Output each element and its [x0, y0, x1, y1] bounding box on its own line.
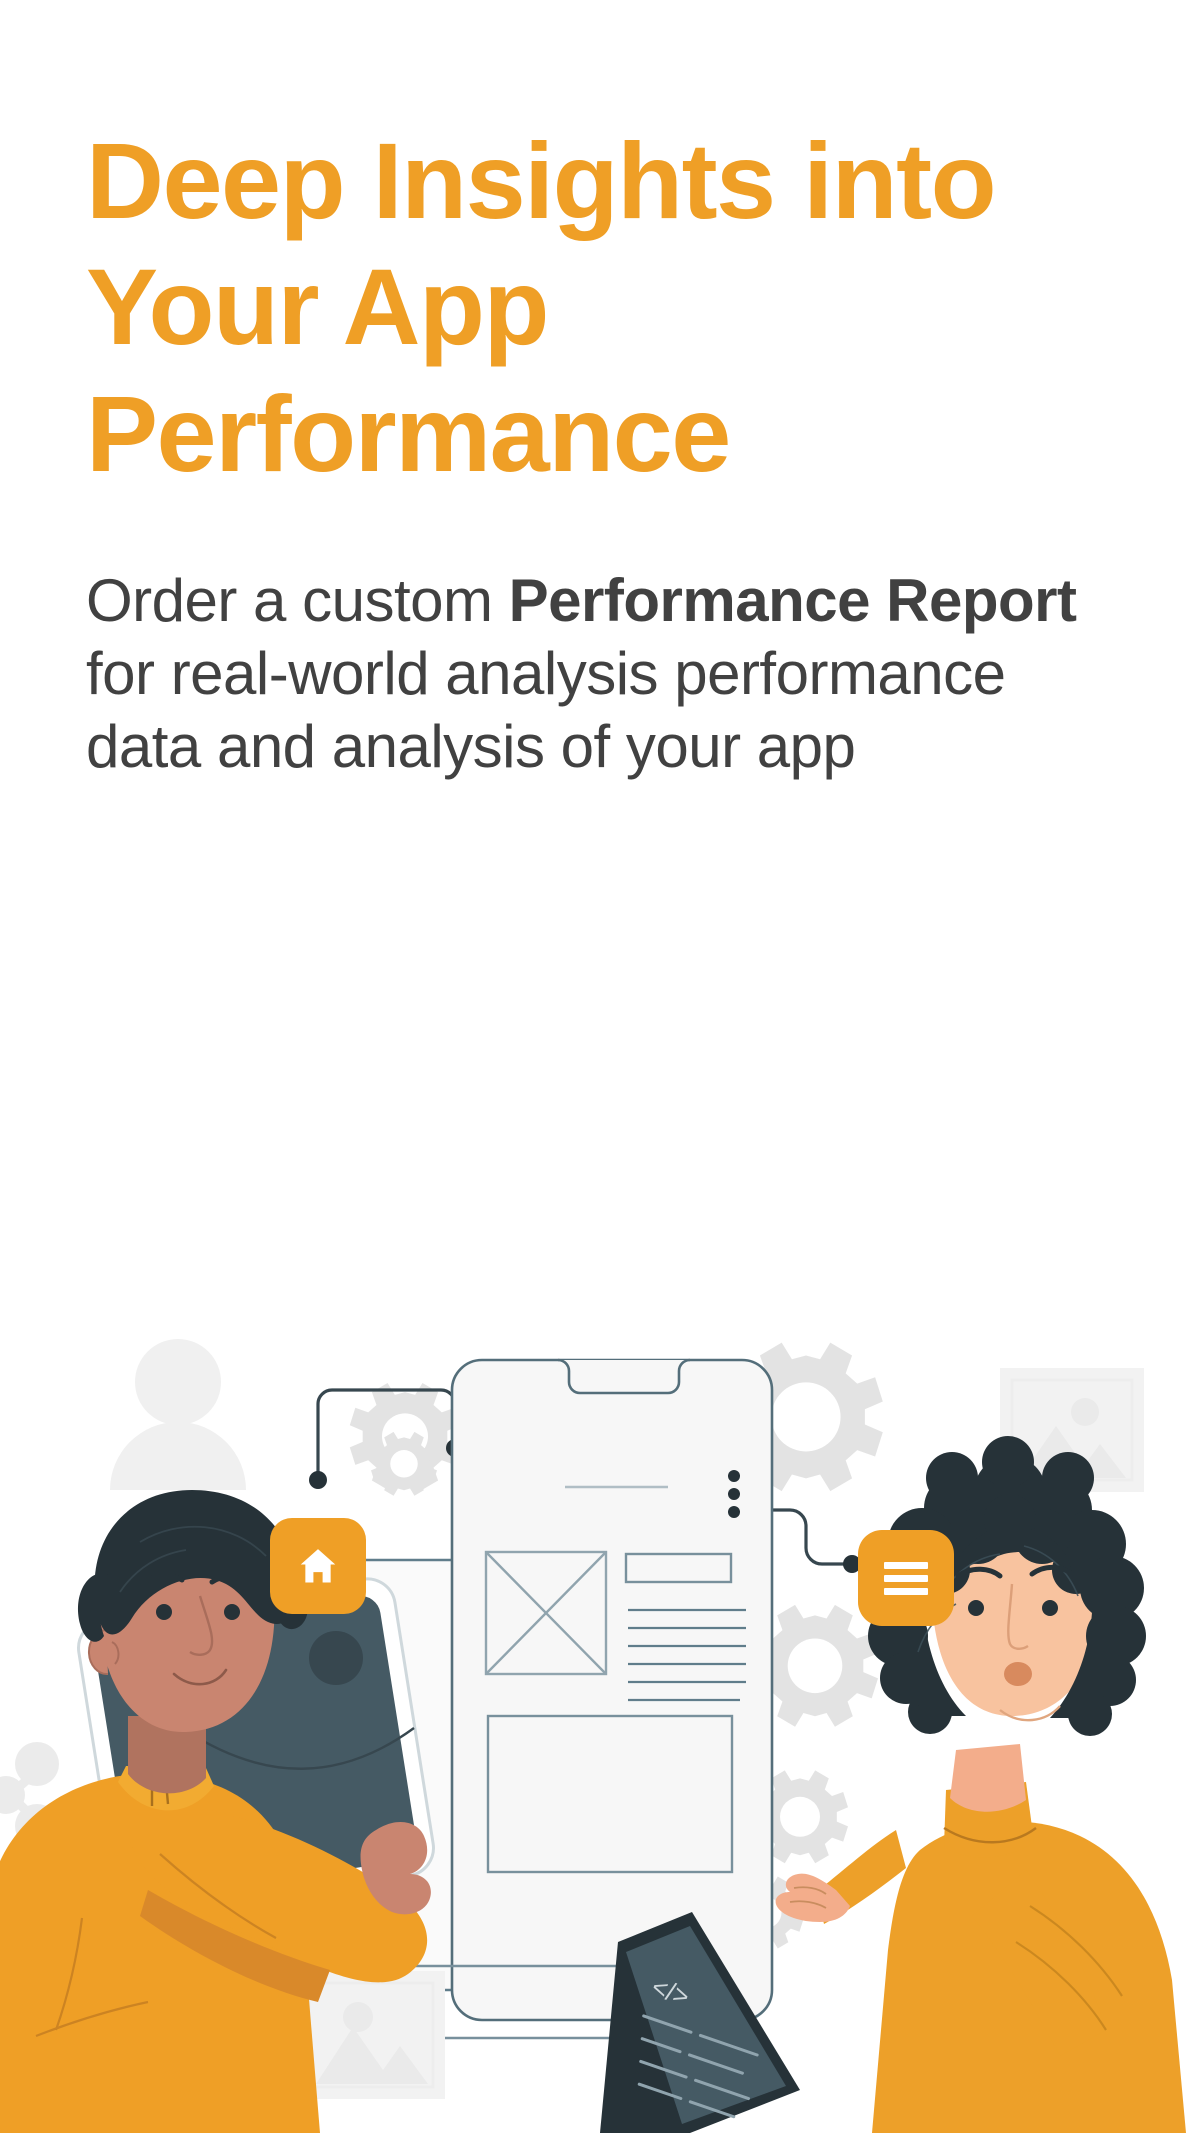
home-tile-button[interactable]: [270, 1518, 366, 1614]
menu-tile-button[interactable]: [858, 1530, 954, 1626]
hero-description-strong: Performance Report: [509, 567, 1077, 634]
menu-icon: [884, 1556, 928, 1601]
avatar-placeholder: [110, 1339, 246, 1490]
hero-description-lead: Order a custom: [86, 567, 492, 634]
more-options-icon: [728, 1470, 740, 1518]
hero-illustration: </>: [0, 1330, 1200, 2133]
hero-page: Deep Insights into Your App Performance …: [0, 0, 1200, 2133]
page-title: Deep Insights into Your App Performance: [86, 118, 1096, 497]
home-icon: [295, 1543, 341, 1589]
hero-text-block: Deep Insights into Your App Performance …: [86, 118, 1096, 784]
hero-description: Order a custom Performance Report for re…: [86, 565, 1096, 784]
hero-description-tail: for real-world analysis performance data…: [86, 640, 1006, 780]
